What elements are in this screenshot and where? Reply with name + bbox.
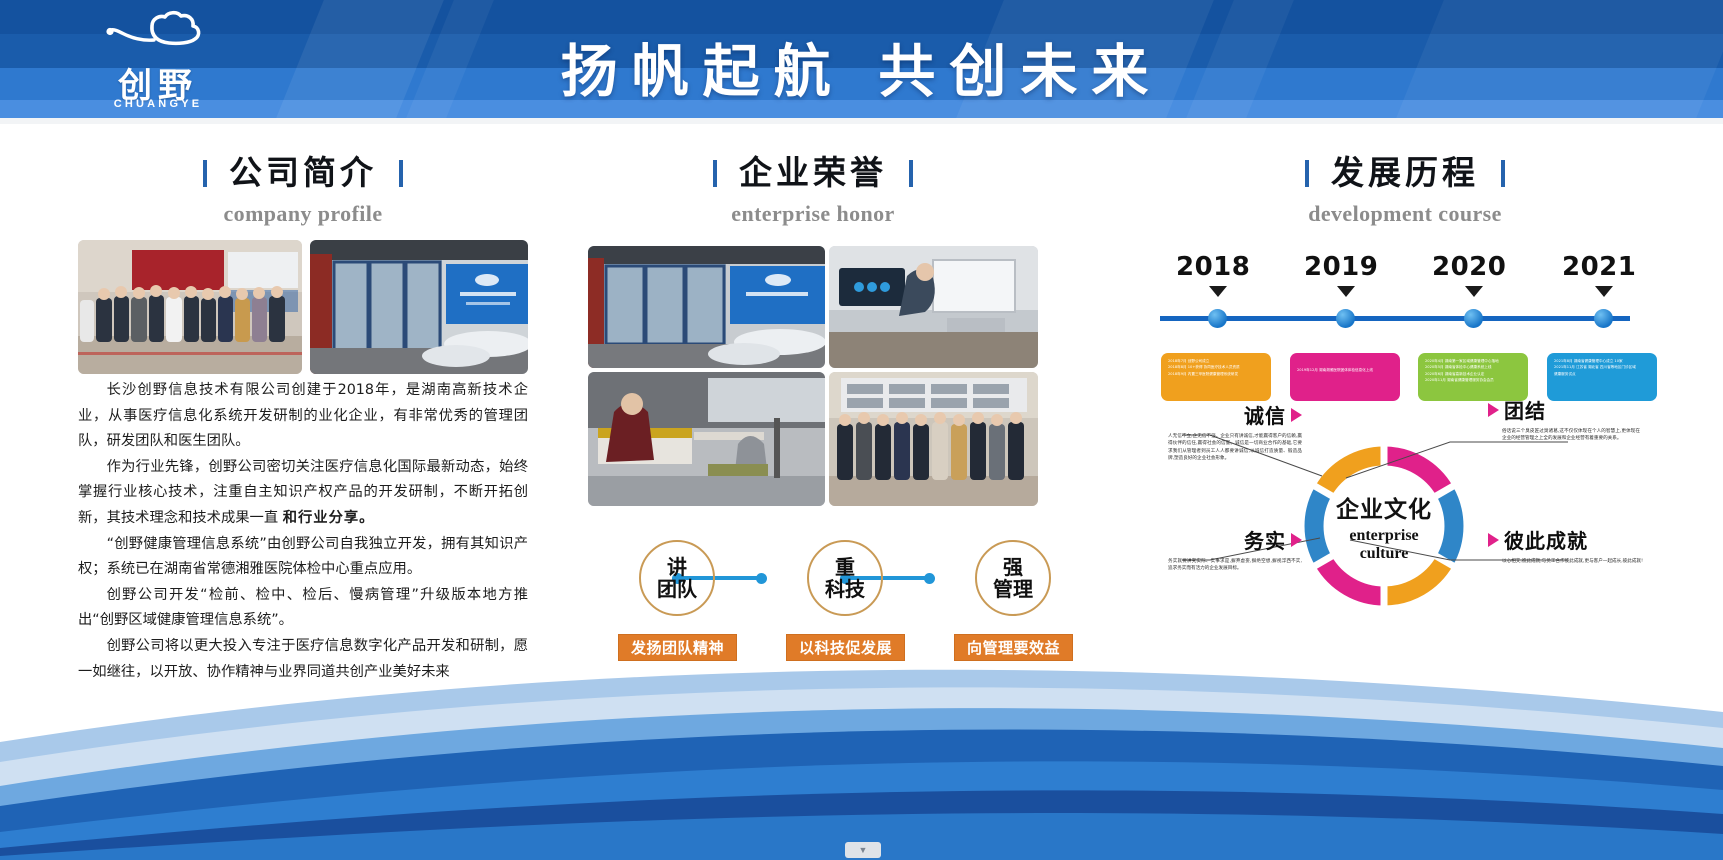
timeline-dot-2021[interactable] (1594, 309, 1613, 328)
culture-item-body: 务实就要讲究实际、实事求是,摒弃虚妄,摒绝空想,摒视浮西不实,追求务实而有活力的… (1150, 558, 1302, 573)
accent-bar-right (399, 160, 403, 187)
triangle-marker-icon (1291, 533, 1302, 547)
honor-photo-open-workspace (588, 372, 825, 506)
scroll-down-indicator[interactable]: ▼ (845, 842, 881, 858)
value-circle-line1: 重 (835, 556, 855, 578)
culture-center-en-1: enterprise (1349, 527, 1418, 545)
timeline-caret-2018 (1209, 286, 1227, 297)
card-nub (1336, 353, 1354, 354)
timeline-card-text: 2019年12月 湖南湘雅医院团体体检信息化上线 (1297, 367, 1394, 373)
honor-photo-presentation-room (829, 246, 1038, 368)
value-circle-line1: 强 (1003, 556, 1023, 578)
section-title-en: enterprise honor (588, 201, 1038, 227)
timeline-card-2021: 2021年8月 湖南省健康管理中心成立 10家 2021年11月 江苏省 湖北省… (1547, 353, 1657, 401)
triangle-marker-icon (1488, 403, 1499, 417)
timeline-card-2019: 2019年12月 湖南湘雅医院团体体检信息化上线 (1290, 353, 1400, 401)
footer-wave-decoration (0, 590, 1723, 860)
culture-center-en-2: culture (1360, 545, 1409, 563)
timeline-year-2021: 2021 (1562, 252, 1636, 282)
culture-item-title: 务实 (1150, 525, 1302, 554)
triangle-marker-icon (1291, 408, 1302, 422)
profile-paragraph: 作为行业先锋，创野公司密切关注医疗信息化国际最新动态，始终掌握行业核心技术，注重… (78, 455, 528, 532)
poster-board: 创野 CHUANGYE 扬帆起航 共创未来 公司简介 company profi… (0, 0, 1723, 860)
card-nub (1464, 353, 1482, 354)
accent-bar-right (909, 160, 913, 187)
office-entrance-photo (310, 240, 528, 374)
timeline-card-2020: 2020年4月 湖南第一家区域健康管理中心落地 2020年5月 湖南省体检中心健… (1418, 353, 1528, 401)
culture-item-title: 彼此成就 (1488, 525, 1650, 554)
value-circle-line1: 讲 (667, 556, 687, 578)
timeline-year-2019: 2019 (1304, 252, 1378, 282)
timeline-card-text: 2018年9月 内置三甲医院健康管理系统研发 (1168, 371, 1265, 377)
accent-bar-right (1501, 160, 1505, 187)
timeline-card-2018: 2018年7月 创野公司成立 2018年8月 10+获得 协同医疗技术人员资质 … (1161, 353, 1271, 401)
timeline-card-text: 健康服务试点 (1554, 371, 1651, 377)
card-nub (1207, 353, 1225, 354)
culture-item-pragmatism: 务实 务实就要讲究实际、实事求是,摒弃虚妄,摒绝空想,摒视浮西不实,追求务实而有… (1150, 525, 1302, 573)
culture-center-cn: 企业文化 (1336, 490, 1432, 524)
section-title-cn: 公司简介 (78, 146, 528, 194)
team-group-photo-lobby (78, 240, 302, 374)
handwritten-phrase: 和行业分享。 (283, 510, 375, 526)
culture-item-body: 俗话说三个臭皮匠过臭诸葛,这不仅仅体现在个人的智慧上,更体现在企业的经营管理之上… (1488, 428, 1640, 443)
timeline-caret-2019 (1337, 286, 1355, 297)
section-title-cn: 发展历程 (1180, 146, 1630, 194)
timeline-caret-2020 (1465, 286, 1483, 297)
section-heading-course: 发展历程 development course (1180, 146, 1630, 227)
header-banner: 创野 CHUANGYE 扬帆起航 共创未来 (0, 0, 1723, 118)
culture-item-integrity: 诚信 人无信不立,企无信不强。企业只有讲诚信,才能赢得客户的信赖,赢得伙伴的信任… (1150, 400, 1302, 463)
section-heading-profile: 公司简介 company profile (78, 146, 528, 227)
header-divider (0, 118, 1723, 124)
timeline-caret-2021 (1595, 286, 1613, 297)
timeline-year-2018: 2018 (1176, 252, 1250, 282)
culture-item-body: 人无信不立,企无信不强。企业只有讲诚信,才能赢得客户的信赖,赢得伙伴的信任,赢得… (1150, 433, 1302, 463)
timeline-dot-2020[interactable] (1464, 309, 1483, 328)
section-title-cn: 企业荣誉 (588, 146, 1038, 194)
culture-item-mutual-achievement: 彼此成就 以心相交,彼此成就,与员工合作彼此成就,更与客户一起成长,彼此成就! (1488, 525, 1650, 565)
section-title-en: development course (1180, 201, 1630, 227)
timeline-axis (1160, 316, 1630, 321)
timeline-dot-2018[interactable] (1208, 309, 1227, 328)
section-heading-honor: 企业荣誉 enterprise honor (588, 146, 1038, 227)
culture-item-title: 团结 (1488, 395, 1640, 424)
culture-item-body: 以心相交,彼此成就,与员工合作彼此成就,更与客户一起成长,彼此成就! (1488, 558, 1650, 565)
accent-bar-left (1305, 160, 1309, 187)
culture-ring: 企业文化 enterprise culture (1298, 440, 1470, 612)
accent-bar-left (203, 160, 207, 187)
accent-bar-left (713, 160, 717, 187)
profile-paragraph: 长沙创野信息技术有限公司创建于2018年，是湖南高新技术企业，从事医疗信息化系统… (78, 378, 528, 455)
triangle-marker-icon (1488, 533, 1499, 547)
honor-photo-group-hospital (829, 372, 1038, 506)
poster-main-title: 扬帆起航 共创未来 (0, 26, 1723, 108)
timeline-dot-2019[interactable] (1336, 309, 1355, 328)
card-nub (1593, 353, 1611, 354)
section-title-en: company profile (78, 201, 528, 227)
timeline-card-text: 2020年11月 湖南省健康管理服务协会会员 (1425, 377, 1522, 383)
culture-ring-center: 企业文化 enterprise culture (1298, 440, 1470, 612)
culture-item-title: 诚信 (1150, 400, 1302, 429)
profile-paragraph: “创野健康管理信息系统”由创野公司自我独立开发，拥有其知识产权；系统已在湖南省常… (78, 532, 528, 583)
culture-item-unity: 团结 俗话说三个臭皮匠过臭诸葛,这不仅仅体现在个人的智慧上,更体现在企业的经营管… (1488, 395, 1640, 443)
timeline-year-2020: 2020 (1432, 252, 1506, 282)
honor-photo-office-reception (588, 246, 825, 368)
